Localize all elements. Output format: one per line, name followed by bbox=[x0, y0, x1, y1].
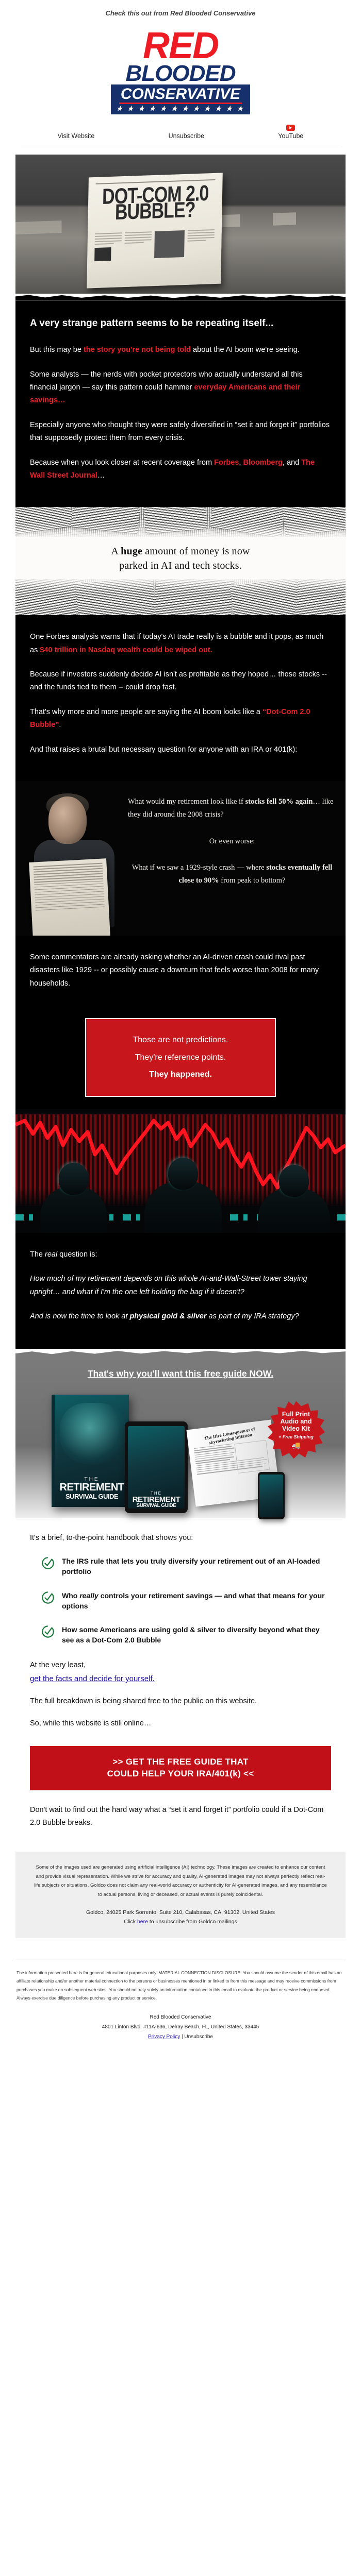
youtube-icon bbox=[286, 125, 295, 131]
torn-edge-gray bbox=[15, 1349, 346, 1357]
book-the-label: THE bbox=[59, 1477, 125, 1482]
newsprint-headline-line2: parked in AI and tech stocks. bbox=[15, 558, 346, 573]
guide-headline: That's why you'll want this free guide N… bbox=[26, 1368, 335, 1379]
cta-line-two: COULD HELP YOUR IRA/401(k) << bbox=[39, 1768, 322, 1780]
nav-unsubscribe-label: Unsubscribe bbox=[169, 132, 204, 140]
privacy-policy-link[interactable]: Privacy Policy bbox=[148, 2034, 180, 2040]
logo-word-conservative-bar: CONSERVATIVE ★ ★ ★ ★ ★ ★ ★ ★ ★ ★ ★ ★ bbox=[111, 84, 250, 114]
badge-line-two: Audio and bbox=[280, 1418, 311, 1425]
newspaper-headline-line2: BUBBLE? bbox=[95, 199, 215, 224]
book-title-line2: SURVIVAL GUIDE bbox=[59, 1493, 125, 1500]
check-circle-icon bbox=[41, 1591, 55, 1604]
get-free-guide-button[interactable]: >> GET THE FREE GUIDE THAT COULD HELP YO… bbox=[30, 1746, 331, 1790]
paragraph-question-two: And is now the time to look at physical … bbox=[30, 1310, 331, 1323]
paragraph-coverage: Because when you look closer at recent c… bbox=[30, 456, 331, 483]
ai-disclaimer-box: Some of the images used are generated us… bbox=[15, 1852, 346, 1938]
torn-edge-top bbox=[15, 294, 346, 301]
para4-part-b: … bbox=[97, 471, 105, 480]
logo-stars: ★ ★ ★ ★ ★ ★ ★ ★ ★ ★ ★ ★ bbox=[114, 105, 247, 114]
brand-logo[interactable]: RED BLOODED CONSERVATIVE ★ ★ ★ ★ ★ ★ ★ ★… bbox=[111, 29, 250, 114]
newsprint-headline: A huge amount of money is now parked in … bbox=[15, 544, 346, 573]
para-bubble-part-b: . bbox=[59, 721, 61, 729]
callout-container: Those are not predictions. They're refer… bbox=[15, 1004, 346, 1109]
nav-youtube-label: YouTube bbox=[278, 132, 303, 140]
para1-highlight: the story you're not being told bbox=[84, 346, 191, 354]
brand-footer-name: Red Blooded Conservative bbox=[15, 2012, 346, 2022]
newspaper-column bbox=[187, 229, 215, 258]
paragraph-brutal-question: And that raises a brutal but necessary q… bbox=[30, 743, 331, 756]
list-item-label: Who really controls your retirement savi… bbox=[62, 1590, 331, 1612]
logo-word-red: RED bbox=[111, 29, 250, 63]
free-shipping-badge: Full Print Audio and Video Kit + Free Sh… bbox=[267, 1401, 325, 1459]
para4-part-a: Because when you look closer at recent c… bbox=[30, 459, 214, 467]
quote-line-three: What if we saw a 1929-style crash — wher… bbox=[128, 861, 336, 888]
really-emphasis: really bbox=[79, 1591, 99, 1600]
phone-screen bbox=[259, 1475, 283, 1517]
guide-promo-section: That's why you'll want this free guide N… bbox=[15, 1357, 346, 1518]
offer-intro: It's a brief, to-the-point handbook that… bbox=[30, 1532, 331, 1545]
at-least-text: At the very least, bbox=[30, 1661, 86, 1669]
market-crash-image bbox=[15, 1109, 346, 1233]
para4-forbes: Forbes bbox=[214, 459, 239, 467]
para4-sep2: , and bbox=[283, 459, 301, 467]
callout-line-two: They're reference points. bbox=[107, 1049, 254, 1066]
check-circle-icon bbox=[41, 1625, 55, 1638]
top-navigation: Visit Website Unsubscribe YouTube bbox=[0, 116, 361, 145]
check-circle-icon bbox=[41, 1556, 55, 1570]
unsubscribe-here-link[interactable]: here bbox=[137, 1919, 148, 1925]
logo-container: RED BLOODED CONSERVATIVE ★ ★ ★ ★ ★ ★ ★ ★… bbox=[0, 22, 361, 116]
newsprint-headline-line1: A huge amount of money is now bbox=[15, 544, 346, 558]
nav-visit-website[interactable]: Visit Website bbox=[58, 132, 95, 140]
list-item-label: How some Americans are using gold & silv… bbox=[62, 1624, 331, 1646]
phone-mockup bbox=[258, 1472, 285, 1519]
get-the-facts-link[interactable]: get the facts and decide for yourself. bbox=[30, 1672, 331, 1686]
real-emphasis: real bbox=[45, 1250, 57, 1259]
list-item: Who really controls your retirement savi… bbox=[41, 1590, 331, 1612]
man-figure bbox=[25, 792, 123, 924]
offer-section: It's a brief, to-the-point handbook that… bbox=[15, 1518, 346, 1849]
nav-divider bbox=[21, 145, 340, 145]
footer-unsubscribe-link[interactable]: Unsubscribe bbox=[184, 2034, 213, 2040]
nav-visit-website-label: Visit Website bbox=[58, 132, 95, 140]
legal-disclosure-text: The information presented here is for ge… bbox=[15, 1959, 346, 2007]
para-bubble-part-a: That's why more and more people are sayi… bbox=[30, 708, 262, 716]
newspaper-prop: DOT-COM 2.0 BUBBLE? bbox=[87, 173, 223, 288]
body-section-four: The real question is: How much of my ret… bbox=[15, 1233, 346, 1349]
paragraph-investors: Because if investors suddenly decide AI … bbox=[30, 668, 331, 694]
body-section-two: One Forbes analysis warns that if today'… bbox=[15, 615, 346, 781]
para-forbes-highlight: $40 trillion in Nasdaq wealth could be w… bbox=[40, 646, 212, 654]
quote-overlay: What would my retirement look like if st… bbox=[128, 792, 336, 924]
brand-footer: Red Blooded Conservative 4801 Linton Blv… bbox=[15, 2012, 346, 2042]
quote-line-one: What would my retirement look like if st… bbox=[128, 795, 336, 822]
paragraph-dotcom-bubble: That's why more and more people are sayi… bbox=[30, 706, 331, 732]
quote-bold-50pct: stocks fell 50% again bbox=[245, 798, 313, 806]
callout-line-three: They happened. bbox=[107, 1066, 254, 1083]
newspaper-column bbox=[124, 231, 152, 260]
man-reading-newspaper-image: What would my retirement look like if st… bbox=[15, 781, 346, 936]
paragraph-ai-story: But this may be the story you're not bei… bbox=[30, 344, 331, 357]
badge-line-one: Full Print bbox=[282, 1411, 310, 1418]
badge-subtext: + Free Shipping bbox=[278, 1434, 314, 1439]
callout-line-one: Those are not predictions. bbox=[107, 1031, 254, 1049]
paragraph-question-one: How much of my retirement depends on thi… bbox=[30, 1273, 331, 1299]
offer-free-breakdown: The full breakdown is being shared free … bbox=[30, 1695, 331, 1708]
tablet-title-line1: RETIREMENT bbox=[128, 1496, 185, 1503]
man-newspaper bbox=[29, 858, 110, 940]
gold-silver-emphasis: physical gold & silver bbox=[129, 1312, 206, 1320]
benefit-list: The IRS rule that lets you truly diversi… bbox=[41, 1556, 331, 1646]
book-title-line1: RETIREMENT bbox=[59, 1482, 125, 1493]
brand-footer-links: Privacy Policy | Unsubscribe bbox=[15, 2032, 346, 2042]
paragraph-analysts: Some analysts — the nerds with pocket pr… bbox=[30, 368, 331, 408]
offer-still-online: So, while this website is still online… bbox=[30, 1717, 331, 1730]
newspaper-ad-block bbox=[94, 247, 111, 261]
silhouette-person bbox=[144, 1181, 222, 1233]
newspaper-column bbox=[94, 232, 122, 261]
ai-disclaimer-text: Some of the images used are generated us… bbox=[33, 1863, 328, 1899]
newsprint-banner-image: A huge amount of money is now parked in … bbox=[15, 507, 346, 615]
newspaper-columns bbox=[94, 229, 215, 261]
product-mockup-image: THE RETIREMENT SURVIVAL GUIDE THE RETIRE… bbox=[36, 1389, 325, 1518]
list-item-label: The IRS rule that lets you truly diversi… bbox=[62, 1556, 331, 1577]
printed-book-mockup: THE RETIREMENT SURVIVAL GUIDE bbox=[52, 1395, 129, 1507]
truck-icon: 🚚 bbox=[291, 1441, 300, 1449]
red-callout-box: Those are not predictions. They're refer… bbox=[85, 1018, 276, 1097]
nav-unsubscribe[interactable]: Unsubscribe bbox=[169, 132, 204, 140]
section-lead-heading: A very strange pattern seems to be repea… bbox=[30, 316, 331, 331]
silhouette-person bbox=[258, 1189, 330, 1233]
hero-newspaper-image: DOT-COM 2.0 BUBBLE? bbox=[15, 155, 346, 294]
offer-at-least: At the very least, get the facts and dec… bbox=[30, 1659, 331, 1686]
offer-dont-wait: Don't wait to find out the hard way what… bbox=[30, 1804, 331, 1829]
body-section-one: A very strange pattern seems to be repea… bbox=[15, 301, 346, 507]
goldco-unsubscribe-line: Click here to unsubscribe from Goldco ma… bbox=[33, 1917, 328, 1927]
open-book-chart bbox=[234, 1440, 270, 1473]
logo-red-rule bbox=[119, 103, 242, 104]
book-cover-portrait bbox=[60, 1403, 126, 1465]
list-item: How some Americans are using gold & silv… bbox=[41, 1624, 331, 1646]
preheader-text: Check this out from Red Blooded Conserva… bbox=[0, 0, 361, 22]
paragraph-commentators: Some commentators are already asking whe… bbox=[30, 951, 331, 990]
para1-part-a: But this may be bbox=[30, 346, 84, 354]
goldco-address: Goldco, 24025 Park Sorrento, Suite 210, … bbox=[33, 1908, 328, 1918]
para1-part-b: about the AI boom we're seeing. bbox=[191, 346, 300, 354]
goldco-footer: Goldco, 24025 Park Sorrento, Suite 210, … bbox=[33, 1908, 328, 1927]
paragraph-diversified: Especially anyone who thought they were … bbox=[30, 419, 331, 445]
nav-youtube[interactable]: YouTube bbox=[278, 125, 303, 140]
para4-bloomberg: Bloomberg bbox=[243, 459, 283, 467]
paragraph-forbes-analysis: One Forbes analysis warns that if today'… bbox=[30, 631, 331, 657]
man-head bbox=[48, 796, 87, 844]
logo-word-blooded: BLOODED bbox=[111, 63, 250, 84]
cta-line-one: >> GET THE FREE GUIDE THAT bbox=[39, 1756, 322, 1768]
tablet-title-line2: SURVIVAL GUIDE bbox=[128, 1503, 185, 1509]
body-section-three: Some commentators are already asking whe… bbox=[15, 936, 346, 1004]
cta-container: >> GET THE FREE GUIDE THAT COULD HELP YO… bbox=[30, 1739, 331, 1804]
tablet-mockup: THE RETIREMENT SURVIVAL GUIDE bbox=[125, 1421, 188, 1513]
quote-line-two: Or even worse: bbox=[128, 835, 336, 848]
newsprint-bold-huge: huge bbox=[121, 546, 142, 557]
brand-footer-address: 4801 Linton Blvd. #11A-636, Delray Beach… bbox=[15, 2022, 346, 2032]
logo-word-conservative: CONSERVATIVE bbox=[114, 86, 247, 103]
list-item: The IRS rule that lets you truly diversi… bbox=[41, 1556, 331, 1577]
paragraph-real-question-lead: The real question is: bbox=[30, 1248, 331, 1261]
badge-line-three: Video Kit bbox=[282, 1425, 310, 1432]
newspaper-photo bbox=[154, 230, 184, 258]
